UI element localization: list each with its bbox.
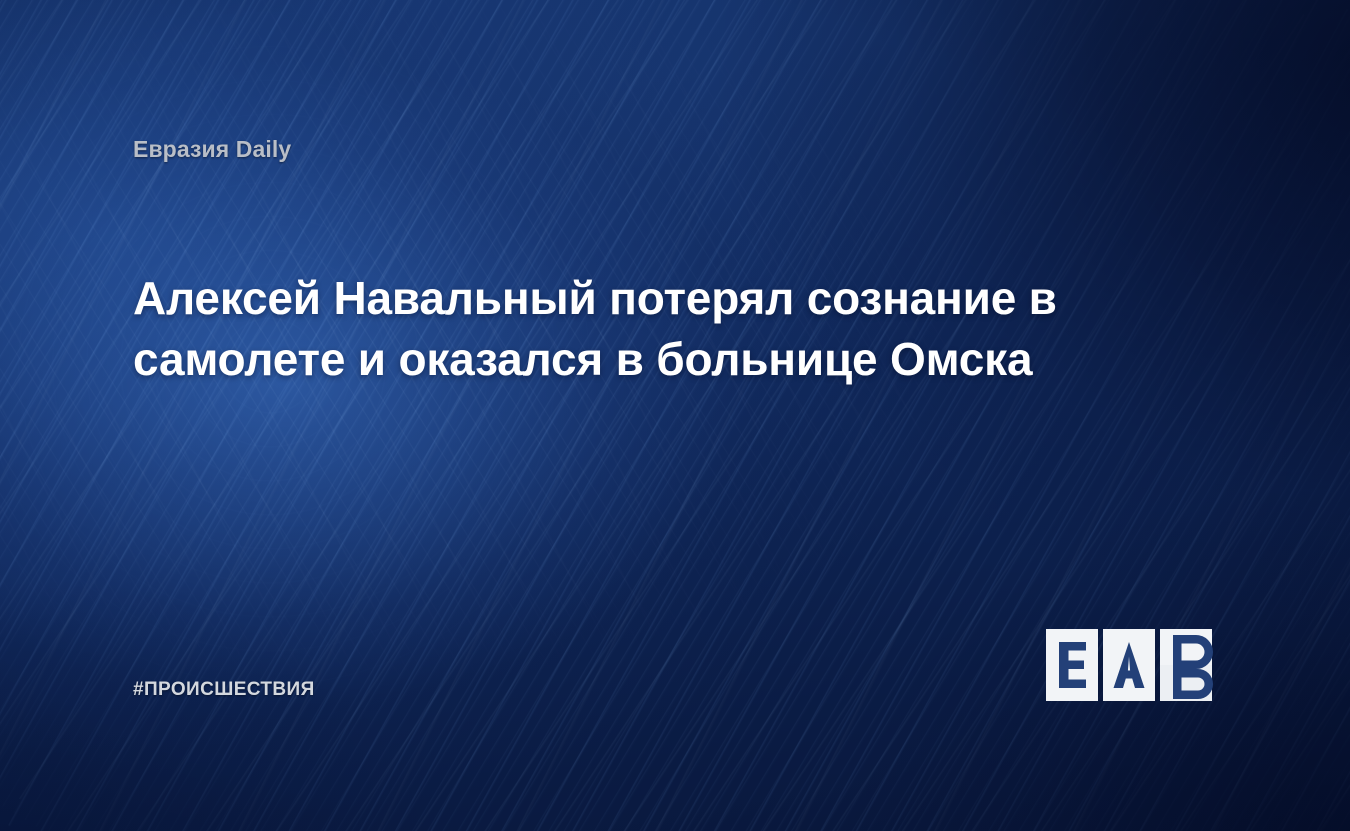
headline-title: Алексей Навальный потерял сознание в сам… (133, 268, 1188, 390)
ead-logo (1046, 629, 1212, 701)
brand-wordmark: Евразия Daily (133, 136, 291, 163)
logo-tile-a (1103, 629, 1155, 701)
logo-tile-d (1160, 629, 1212, 701)
logo-letter-d-split-icon (1160, 629, 1232, 701)
category-hashtag: #ПРОИСШЕСТВИЯ (133, 679, 315, 701)
logo-letter-e-icon (1046, 629, 1098, 701)
logo-letter-a-icon (1103, 629, 1155, 701)
logo-tile-e (1046, 629, 1098, 701)
news-card: Евразия Daily Алексей Навальный потерял … (0, 0, 1350, 831)
card-content: Евразия Daily Алексей Навальный потерял … (0, 0, 1350, 831)
